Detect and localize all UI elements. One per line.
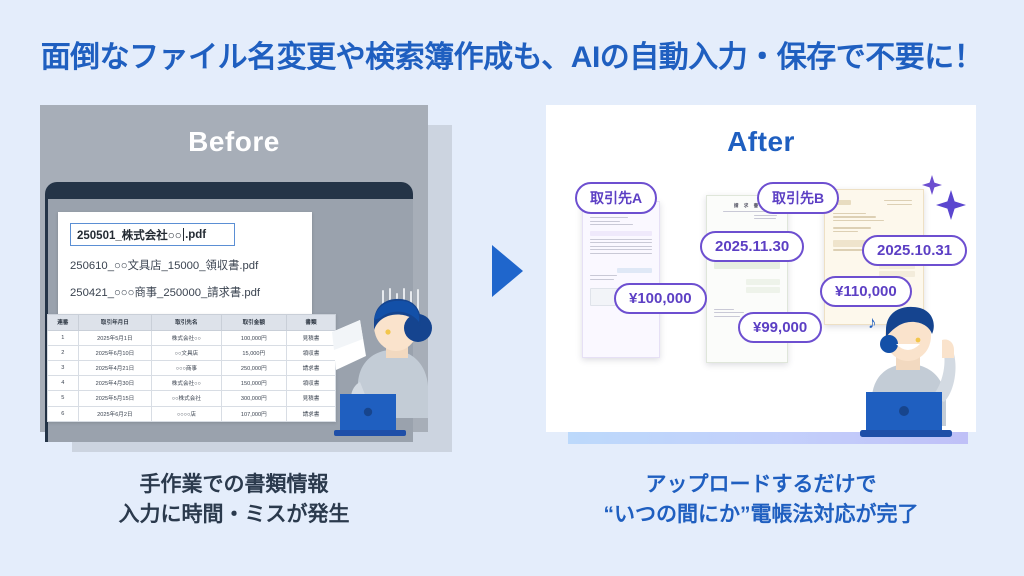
worker-illustration-after [858,300,973,440]
filename-value-prefix: 250501_株式会社○○ [77,227,182,243]
table-cell: 2025年4月30日 [78,376,152,391]
table-header-row: 連番 取引年月日 取引先名 取引金額 書類 [48,315,336,331]
badge-amount-a: ¥100,000 [614,283,707,314]
page-title: 面倒なファイル名変更や検索簿作成も、AIの自動入力・保存で不要に！ [0,32,1024,76]
table-cell: ○○○○店 [152,406,221,421]
filename-value-suffix: .pdf [185,229,206,241]
badge-partner-b: 取引先B [757,182,839,214]
table-cell: 1 [48,330,79,345]
table-cell: 2025年4月21日 [78,360,152,375]
text-caret [183,228,184,241]
table-cell: 4 [48,376,79,391]
document-card-quote[interactable]: 見 積 書 [582,201,660,358]
after-caption: アップロードするだけで “いつの間にか”電帳法対応が完了 [546,470,976,530]
table-cell: 6 [48,406,79,421]
transition-arrow-icon [492,245,523,297]
badge-date-c: 2025.10.31 [862,235,967,266]
table-cell: 2025年6月10日 [78,345,152,360]
table-cell: 領収書 [286,376,335,391]
table-cell: ○○株式会社 [152,391,221,406]
table-cell: 株式会社○○ [152,330,221,345]
table-cell: 5 [48,391,79,406]
table-cell: 100,000円 [221,330,286,345]
table-header-cell: 連番 [48,315,79,331]
table-cell: 領収書 [286,345,335,360]
table-cell: 3 [48,360,79,375]
table-row: 2 2025年6月10日 ○○文具店 15,000円 領収書 [48,345,336,360]
badge-date-b: 2025.11.30 [700,231,804,262]
after-caption-line1: アップロードするだけで [546,470,976,500]
table-cell: 2 [48,345,79,360]
file-list-item[interactable]: 250421_○○○商事_250000_請求書.pdf [70,284,300,300]
table-cell: 2025年5月15日 [78,391,152,406]
table-cell: 2025年5月1日 [78,330,152,345]
filename-input[interactable]: 250501_株式会社○○ .pdf [70,223,235,246]
table-header-cell: 取引年月日 [78,315,152,331]
table-header-cell: 書類 [286,315,335,331]
table-header-cell: 取引金額 [221,315,286,331]
before-caption-line2: 入力に時間・ミスが発生 [40,500,428,530]
table-cell: 150,000円 [221,376,286,391]
table-cell: 見積書 [286,391,335,406]
before-caption: 手作業での書類情報 入力に時間・ミスが発生 [40,470,428,530]
badge-amount-b: ¥99,000 [738,312,822,343]
worker-illustration-before [330,290,450,442]
table-row: 1 2025年5月1日 株式会社○○ 100,000円 見積書 [48,330,336,345]
before-caption-line1: 手作業での書類情報 [40,470,428,500]
after-title: After [546,126,976,158]
table-cell: 15,000円 [221,345,286,360]
slide-canvas: 面倒なファイル名変更や検索簿作成も、AIの自動入力・保存で不要に！ Before… [0,0,1024,576]
table-cell: 請求書 [286,360,335,375]
table-row: 3 2025年4月21日 ○○○商事 250,000円 請求書 [48,360,336,375]
table-header-cell: 取引先名 [152,315,221,331]
table-cell: 見積書 [286,330,335,345]
table-cell: 300,000円 [221,391,286,406]
table-cell: ○○○商事 [152,360,221,375]
table-cell: 107,000円 [221,406,286,421]
badge-partner-a: 取引先A [575,182,657,214]
table-row: 6 2025年6月2日 ○○○○店 107,000円 請求書 [48,406,336,421]
table-cell: 株式会社○○ [152,376,221,391]
sparkle-large-icon [936,190,966,220]
after-caption-line2: “いつの間にか”電帳法対応が完了 [546,500,976,530]
before-title: Before [40,126,428,158]
file-list-item[interactable]: 250610_○○文具店_15000_領収書.pdf [70,257,300,273]
table-cell: 2025年6月2日 [78,406,152,421]
transactions-table: 連番 取引年月日 取引先名 取引金額 書類 1 2025年5月1日 株式会社○○… [47,314,336,422]
table-row: 5 2025年5月15日 ○○株式会社 300,000円 見積書 [48,391,336,406]
file-rename-card: 250501_株式会社○○ .pdf 250610_○○文具店_15000_領収… [58,212,312,318]
table-cell: 請求書 [286,406,335,421]
table-row: 4 2025年4月30日 株式会社○○ 150,000円 領収書 [48,376,336,391]
table-cell: 250,000円 [221,360,286,375]
table-cell: ○○文具店 [152,345,221,360]
